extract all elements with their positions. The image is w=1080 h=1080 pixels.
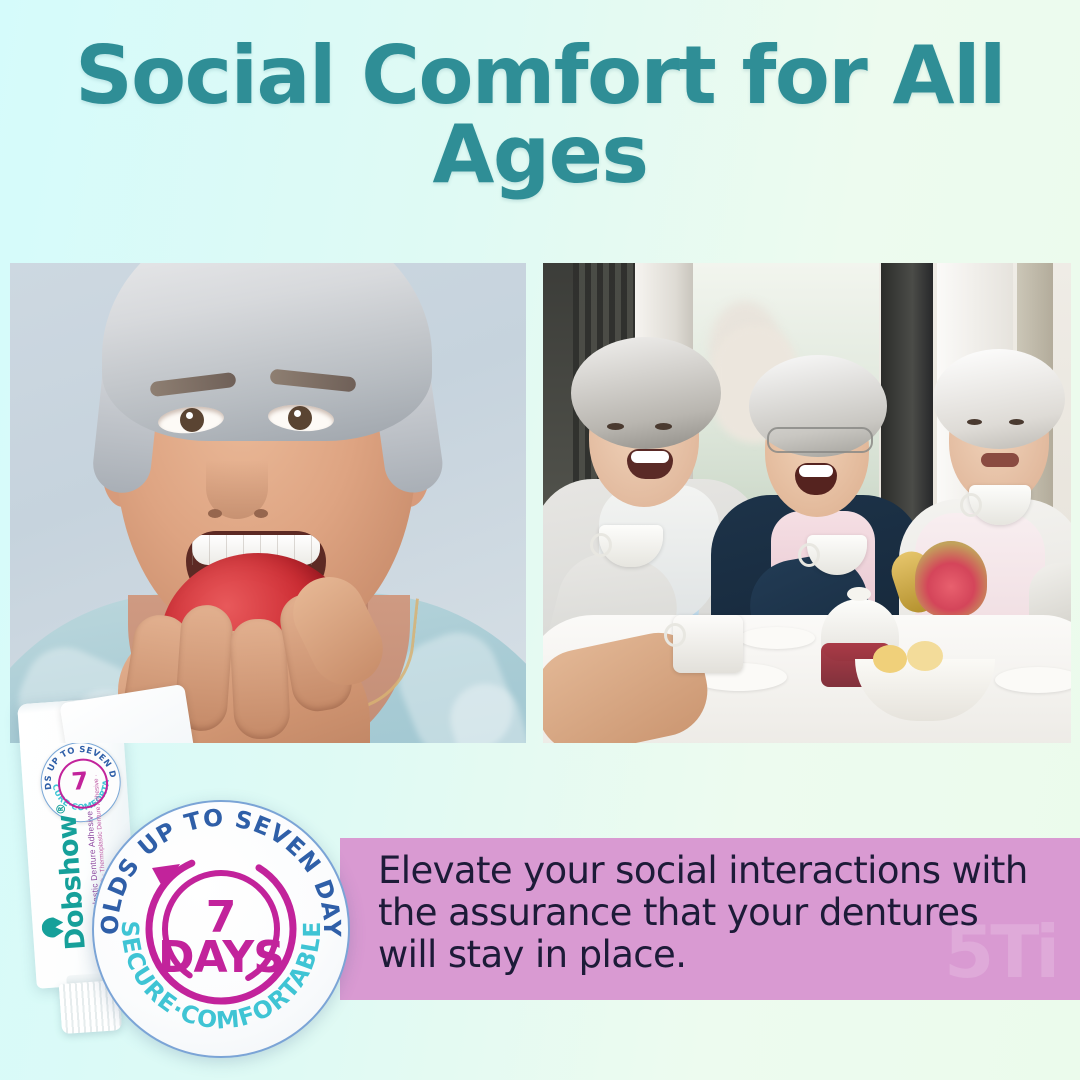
- smiling-mouth: [981, 453, 1019, 467]
- poster-canvas: Social Comfort for All Ages: [0, 0, 1080, 1080]
- laughing-mouth: [627, 449, 673, 479]
- foreground-teacup: [673, 615, 743, 673]
- seal-unit: DAYS: [94, 938, 348, 978]
- protea-flower: [915, 541, 987, 617]
- photo-senior-women-tea-party: [543, 263, 1071, 743]
- woman-right-hair: [933, 349, 1065, 449]
- eye: [607, 423, 624, 430]
- nose: [206, 435, 268, 519]
- plate: [995, 667, 1071, 693]
- fruit: [907, 641, 943, 671]
- photo-man-eating-apple: [10, 263, 526, 743]
- eye: [1009, 419, 1024, 425]
- pupil: [288, 406, 312, 430]
- caption-band: 5Ti Elevate your social interactions wit…: [340, 838, 1080, 1000]
- seal-center-label: 7 DAYS: [94, 898, 348, 979]
- pupil: [180, 408, 204, 432]
- fruit: [873, 645, 907, 673]
- nostril: [208, 509, 222, 518]
- eye: [967, 419, 982, 425]
- page-title: Social Comfort for All Ages: [0, 36, 1080, 194]
- plate: [739, 627, 815, 649]
- grey-hair: [102, 263, 432, 441]
- registered-mark-icon: ®: [54, 803, 69, 815]
- seven-day-seal-badge: HOLDS UP TO SEVEN DAYS SECURE·COMFORTABL…: [92, 800, 350, 1058]
- caption-text: Elevate your social interactions with th…: [378, 850, 1042, 977]
- eye: [655, 423, 672, 430]
- woman-left-hair: [571, 337, 721, 449]
- eyeglasses: [767, 427, 873, 453]
- nostril: [254, 509, 268, 518]
